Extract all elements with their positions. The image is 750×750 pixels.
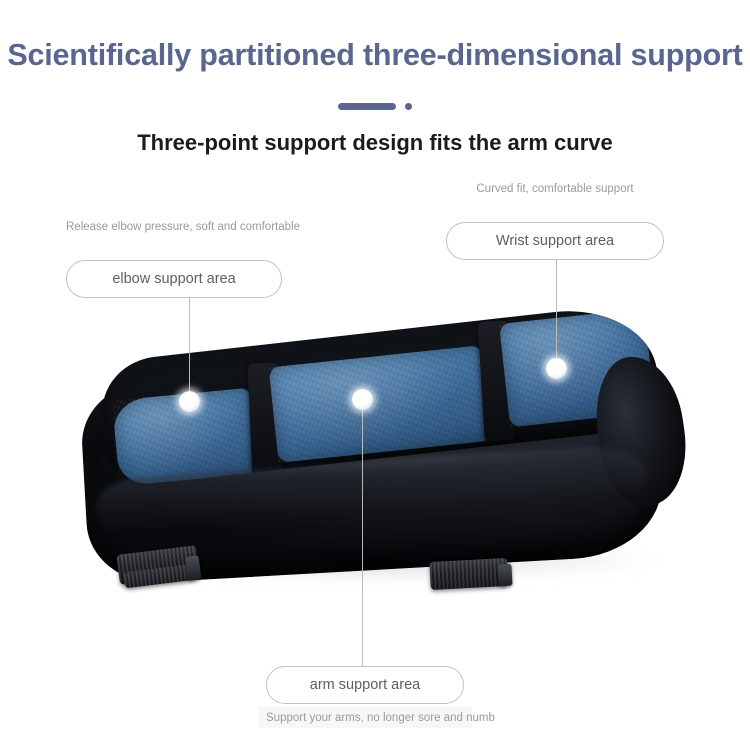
elbow-leader-line — [189, 298, 190, 398]
infographic-page: Scientifically partitioned three-dimensi… — [0, 0, 750, 750]
elbow-caption: Release elbow pressure, soft and comfort… — [66, 221, 282, 233]
arm-support-point-marker — [352, 389, 373, 410]
arm-zone-panel — [269, 345, 493, 463]
wrist-support-point-marker — [546, 358, 567, 379]
title-divider — [0, 99, 750, 113]
page-subtitle: Three-point support design fits the arm … — [0, 130, 750, 156]
page-title: Scientifically partitioned three-dimensi… — [0, 38, 750, 73]
right-strap — [429, 558, 508, 590]
arm-leader-line — [362, 407, 363, 666]
product-image — [78, 312, 688, 612]
wrist-support-area-label: Wrist support area — [446, 222, 664, 260]
divider-bar — [338, 103, 396, 110]
elbow-support-area-label: elbow support area — [66, 260, 282, 298]
left-strap-buckle — [185, 555, 202, 581]
divider-dot — [405, 103, 412, 110]
elbow-support-point-marker — [179, 391, 200, 412]
arm-caption: Support your arms, no longer sore and nu… — [266, 712, 464, 724]
arm-support-area-label: arm support area — [266, 666, 464, 704]
wrist-leader-line — [556, 260, 557, 366]
wrist-caption: Curved fit, comfortable support — [446, 183, 664, 195]
right-strap-buckle — [497, 564, 512, 587]
